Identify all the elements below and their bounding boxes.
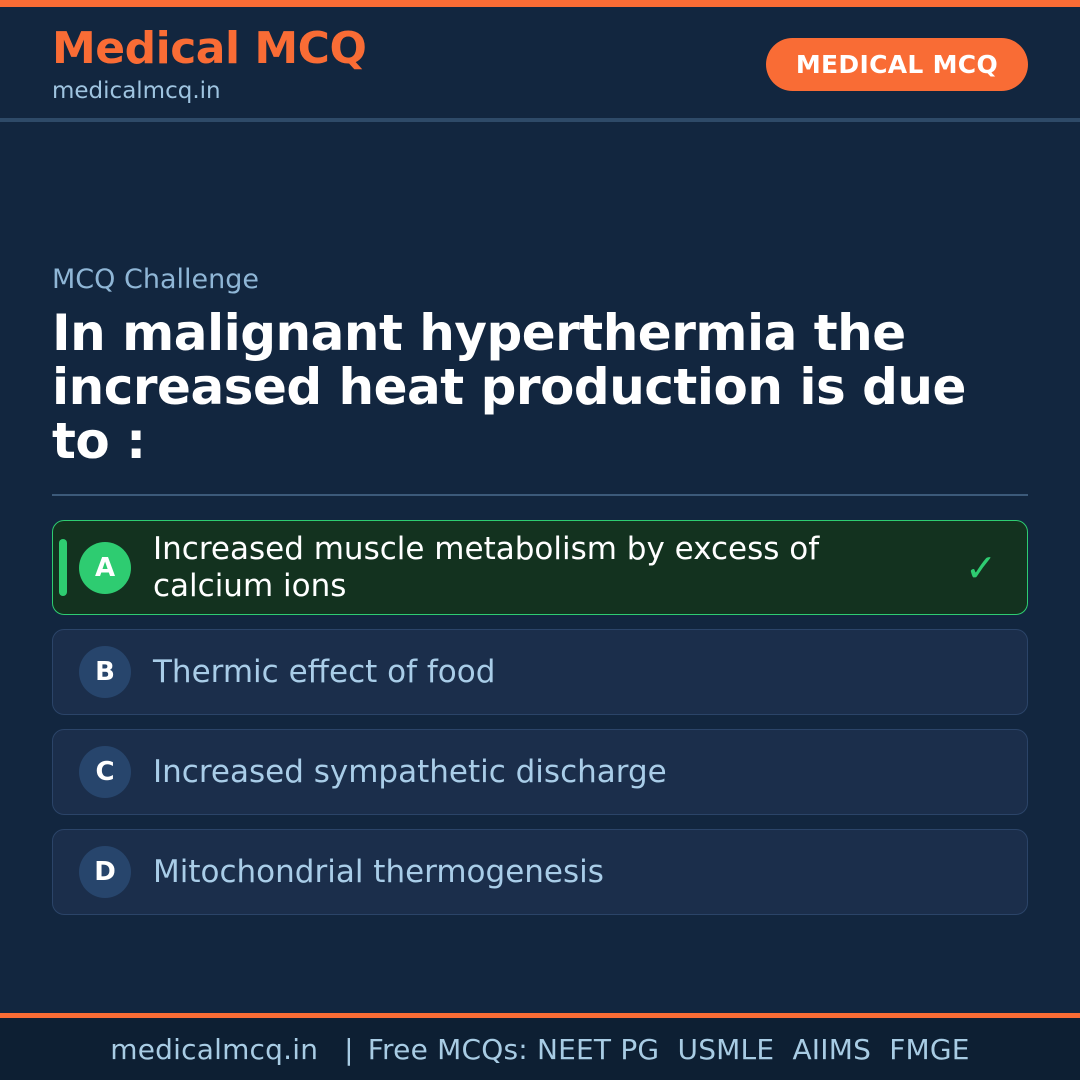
option-d[interactable]: D Mitochondrial thermogenesis ✓ [52, 829, 1028, 915]
footer-text: medicalmcq.in|Free MCQs: NEET PG USMLE A… [110, 1033, 969, 1066]
correct-accent-bar [59, 539, 67, 596]
brand-title: Medical MCQ [52, 26, 366, 72]
option-d-text: Mitochondrial thermogenesis [153, 854, 959, 890]
mcq-card: Medical MCQ medicalmcq.in MEDICAL MCQ MC… [0, 0, 1080, 1080]
section-divider [52, 494, 1028, 496]
footer-site: medicalmcq.in [110, 1033, 330, 1066]
footer-exam-neetpg: NEET PG [537, 1033, 659, 1066]
footer-separator: | [330, 1033, 368, 1066]
header: Medical MCQ medicalmcq.in MEDICAL MCQ [0, 7, 1080, 122]
footer-exams-label: Free MCQs: [368, 1033, 528, 1066]
option-c[interactable]: C Increased sympathetic discharge ✓ [52, 729, 1028, 815]
header-badge: MEDICAL MCQ [766, 38, 1028, 91]
option-b-letter-badge: B [79, 646, 131, 698]
option-a-text: Increased muscle metabolism by excess of… [153, 531, 959, 604]
main-content: MCQ Challenge In malignant hyperthermia … [0, 122, 1080, 1013]
option-c-text: Increased sympathetic discharge [153, 754, 959, 790]
footer-exam-fmge: FMGE [889, 1033, 969, 1066]
option-c-letter-badge: C [79, 746, 131, 798]
eyebrow-label: MCQ Challenge [52, 264, 1028, 296]
option-b[interactable]: B Thermic effect of food ✓ [52, 629, 1028, 715]
footer: medicalmcq.in|Free MCQs: NEET PG USMLE A… [0, 1018, 1080, 1080]
footer-exam-aiims: AIIMS [792, 1033, 871, 1066]
question-text: In malignant hyperthermia the increased … [52, 306, 1028, 468]
options-list: A Increased muscle metabolism by excess … [52, 520, 1028, 915]
option-b-text: Thermic effect of food [153, 654, 959, 690]
brand-subtitle: medicalmcq.in [52, 75, 366, 107]
brand: Medical MCQ medicalmcq.in [52, 26, 366, 106]
option-a-letter-badge: A [79, 542, 131, 594]
footer-exam-usmle: USMLE [678, 1033, 775, 1066]
check-icon: ✓ [959, 549, 1003, 587]
option-d-letter-badge: D [79, 846, 131, 898]
top-accent-rule [0, 0, 1080, 7]
option-a[interactable]: A Increased muscle metabolism by excess … [52, 520, 1028, 615]
